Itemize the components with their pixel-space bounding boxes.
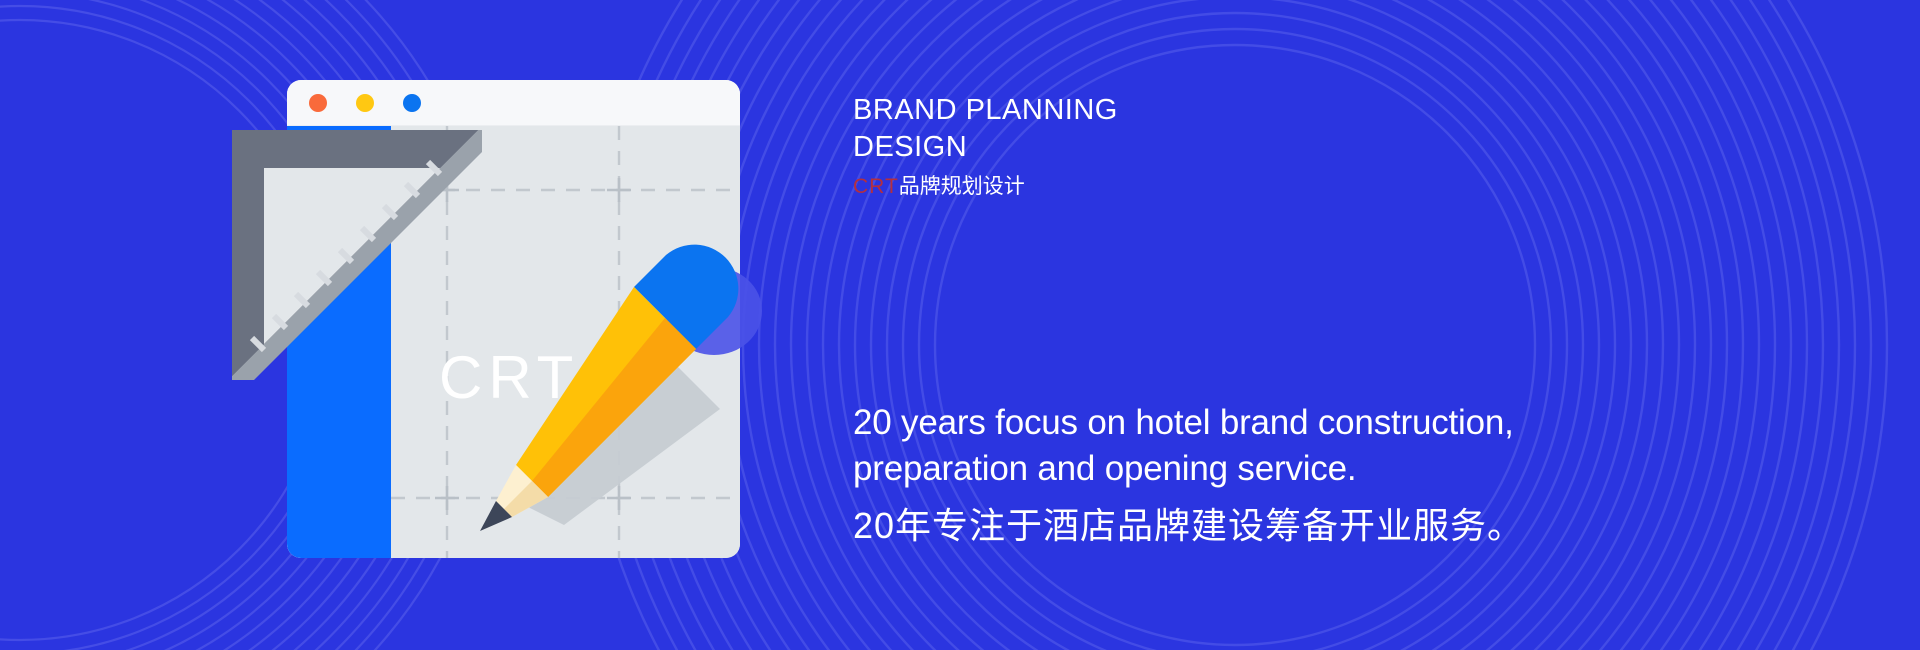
pencil-icon	[452, 225, 772, 545]
close-dot-icon	[309, 94, 327, 112]
browser-window-titlebar	[287, 80, 740, 126]
tagline-english: 20 years focus on hotel brand constructi…	[853, 400, 1673, 491]
headline-title: BRAND PLANNING DESIGN	[853, 92, 1118, 165]
brand-banner: CRT	[0, 0, 1920, 650]
tagline-english-line2: preparation and opening service.	[853, 446, 1673, 492]
headline-block: BRAND PLANNING DESIGN CRT品牌规划设计	[853, 92, 1118, 199]
headline-subtitle-brand: CRT	[853, 175, 899, 198]
headline-subtitle: CRT品牌规划设计	[853, 174, 1118, 199]
tagline-english-line1: 20 years focus on hotel brand constructi…	[853, 400, 1673, 446]
headline-subtitle-zh: 品牌规划设计	[899, 175, 1025, 198]
minimize-dot-icon	[356, 94, 374, 112]
maximize-dot-icon	[403, 94, 421, 112]
tagline-chinese: 20年专注于酒店品牌建设筹备开业服务。	[853, 503, 1673, 548]
tagline-block: 20 years focus on hotel brand constructi…	[853, 400, 1673, 548]
brand-design-illustration: CRT	[232, 80, 740, 558]
